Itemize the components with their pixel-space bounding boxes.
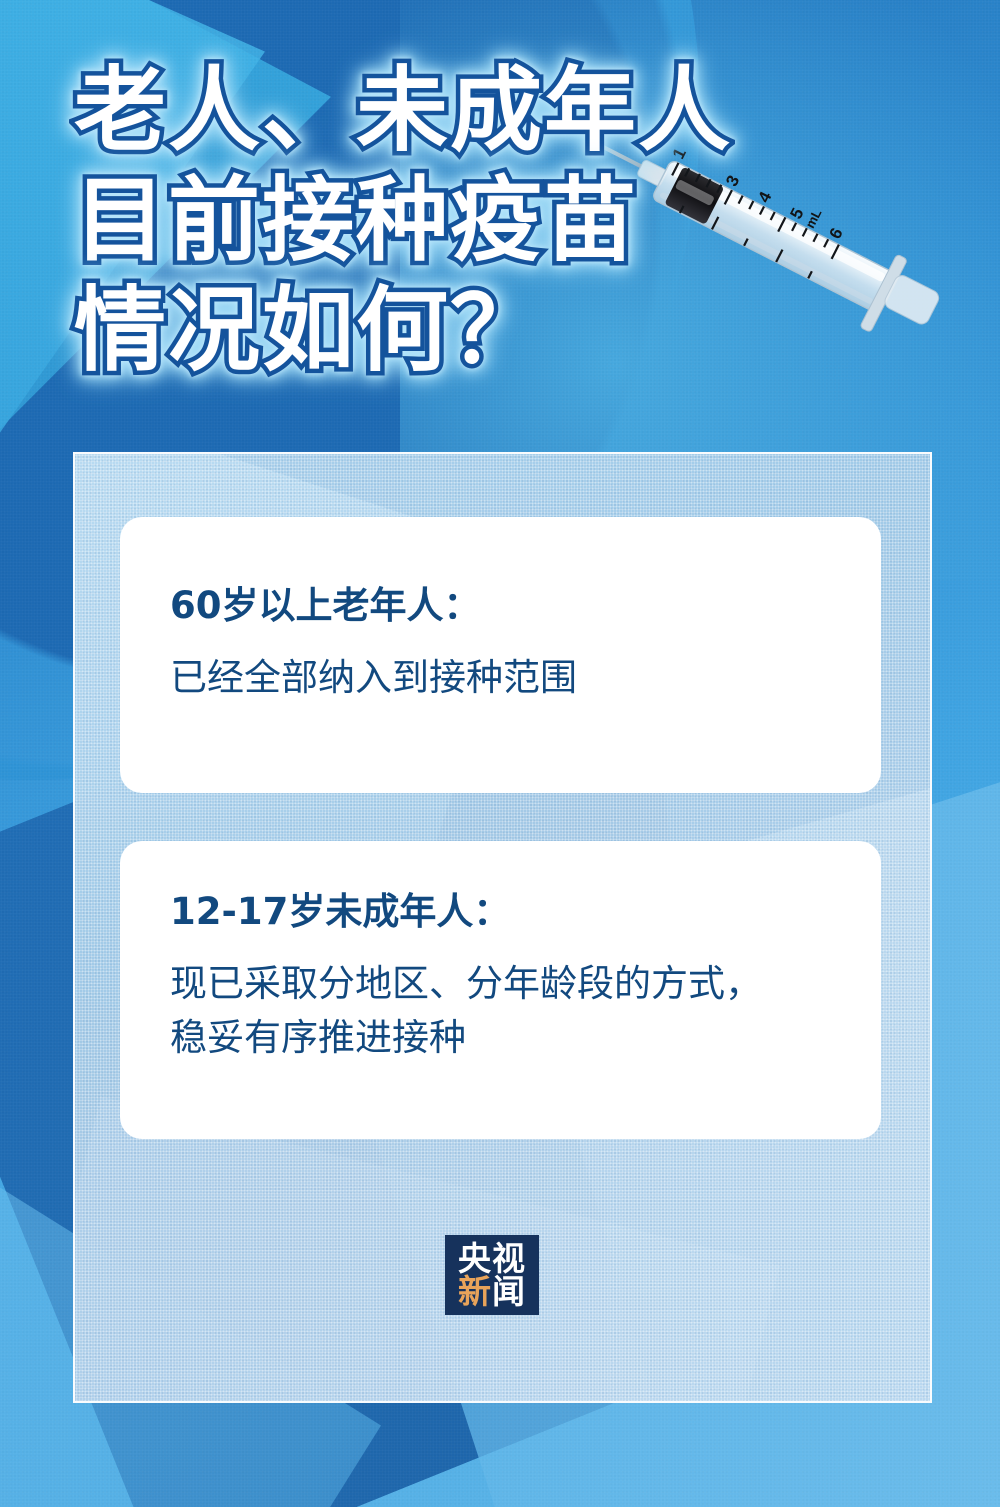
cctv-news-logo: 央视 新 闻 bbox=[445, 1235, 539, 1315]
info-card-elderly: 60岁以上老年人： 已经全部纳入到接种范围 bbox=[120, 517, 881, 793]
logo-text-xin: 新 bbox=[458, 1275, 492, 1308]
info-card-minors-heading: 12-17岁未成年人： bbox=[170, 889, 853, 935]
info-card-minors-body-line-2: 稳妥有序推进接种 bbox=[170, 1011, 853, 1065]
info-card-elderly-body-line-1: 已经全部纳入到接种范围 bbox=[170, 651, 853, 705]
logo-text-wen: 闻 bbox=[492, 1275, 526, 1308]
info-card-elderly-body: 已经全部纳入到接种范围 bbox=[170, 651, 853, 705]
info-card-elderly-content: 60岁以上老年人： 已经全部纳入到接种范围 bbox=[170, 583, 853, 705]
info-card-elderly-heading: 60岁以上老年人： bbox=[170, 583, 853, 629]
title-line-3: 情况如何？ bbox=[74, 276, 934, 386]
poster-root: 1 3 4 5 mL 6 老人、未成年人 目前接种疫苗 情况如何？ 60岁以上老… bbox=[0, 0, 1000, 1507]
info-card-minors-body-line-1: 现已采取分地区、分年龄段的方式， bbox=[170, 957, 853, 1011]
info-card-minors-body: 现已采取分地区、分年龄段的方式， 稳妥有序推进接种 bbox=[170, 957, 853, 1065]
title-line-2: 目前接种疫苗 bbox=[74, 166, 934, 276]
logo-text-yangshi: 央视 bbox=[458, 1242, 526, 1275]
title-line-1: 老人、未成年人 bbox=[74, 56, 934, 166]
info-card-minors: 12-17岁未成年人： 现已采取分地区、分年龄段的方式， 稳妥有序推进接种 bbox=[120, 841, 881, 1139]
page-title: 老人、未成年人 目前接种疫苗 情况如何？ bbox=[74, 56, 934, 386]
info-card-minors-content: 12-17岁未成年人： 现已采取分地区、分年龄段的方式， 稳妥有序推进接种 bbox=[170, 889, 853, 1065]
logo-row-bottom: 新 闻 bbox=[458, 1275, 526, 1308]
logo-row-top: 央视 bbox=[458, 1242, 526, 1275]
